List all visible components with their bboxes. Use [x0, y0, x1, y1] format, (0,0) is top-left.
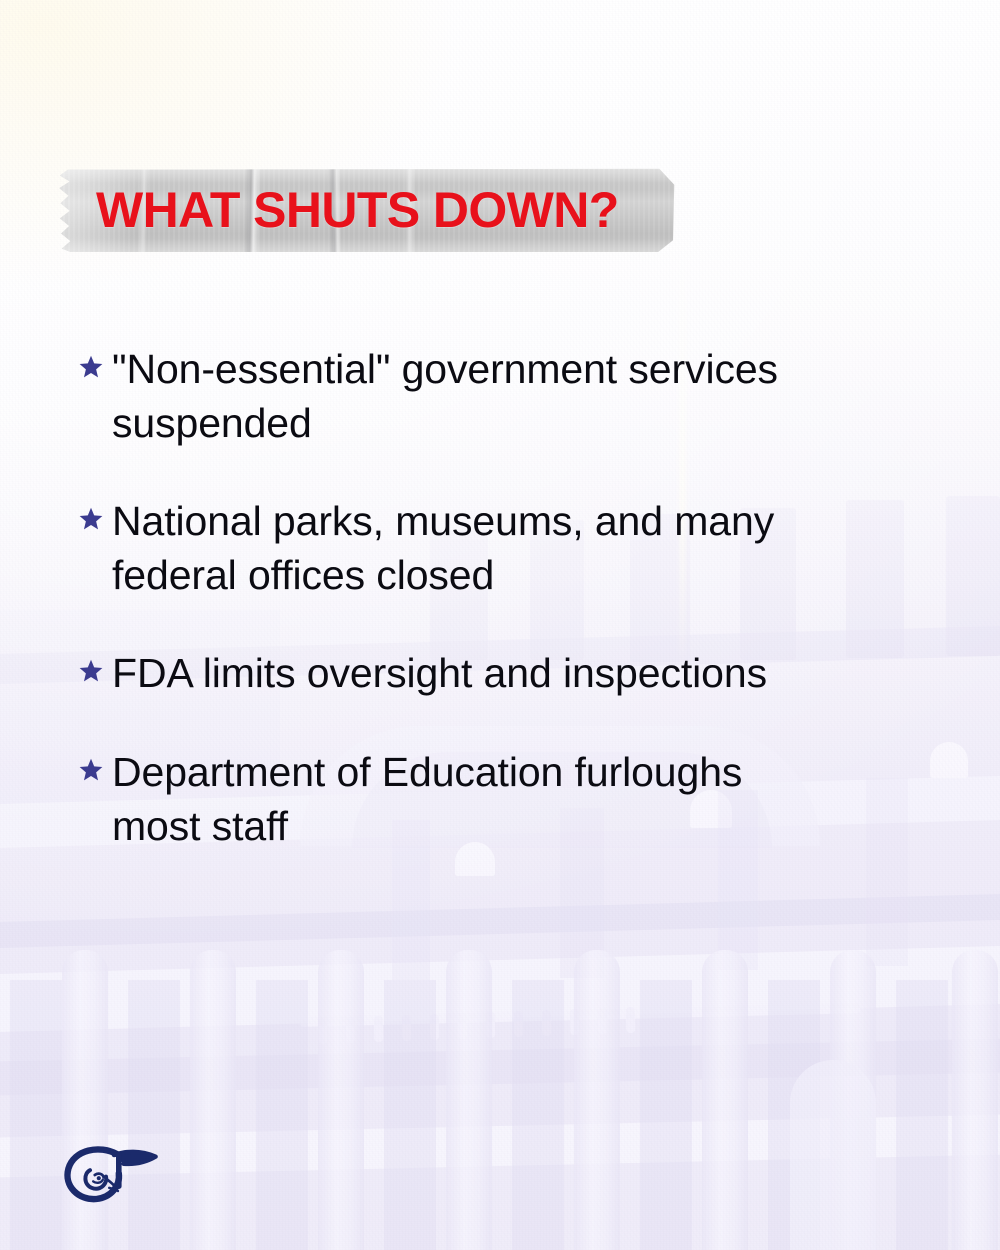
title-tape-banner: WHAT SHUTS DOWN?: [58, 168, 678, 252]
list-item-text: "Non-essential" government services susp…: [112, 342, 812, 450]
list-item: "Non-essential" government services susp…: [78, 342, 918, 450]
list-item-text: Department of Education furloughs most s…: [112, 745, 812, 853]
star-icon: [78, 658, 112, 684]
star-icon: [78, 757, 112, 783]
bullet-list: "Non-essential" government services susp…: [78, 342, 918, 853]
list-item: Department of Education furloughs most s…: [78, 745, 918, 853]
page-title: WHAT SHUTS DOWN?: [96, 168, 619, 252]
list-item-text: FDA limits oversight and inspections: [112, 646, 812, 700]
poster-canvas: WHAT SHUTS DOWN? "Non-essential" governm…: [0, 0, 1000, 1250]
al-mayadeen-logo[interactable]: [58, 1138, 162, 1212]
star-icon: [78, 354, 112, 380]
list-item: FDA limits oversight and inspections: [78, 646, 918, 700]
star-icon: [78, 506, 112, 532]
list-item: National parks, museums, and many federa…: [78, 494, 918, 602]
list-item-text: National parks, museums, and many federa…: [112, 494, 812, 602]
